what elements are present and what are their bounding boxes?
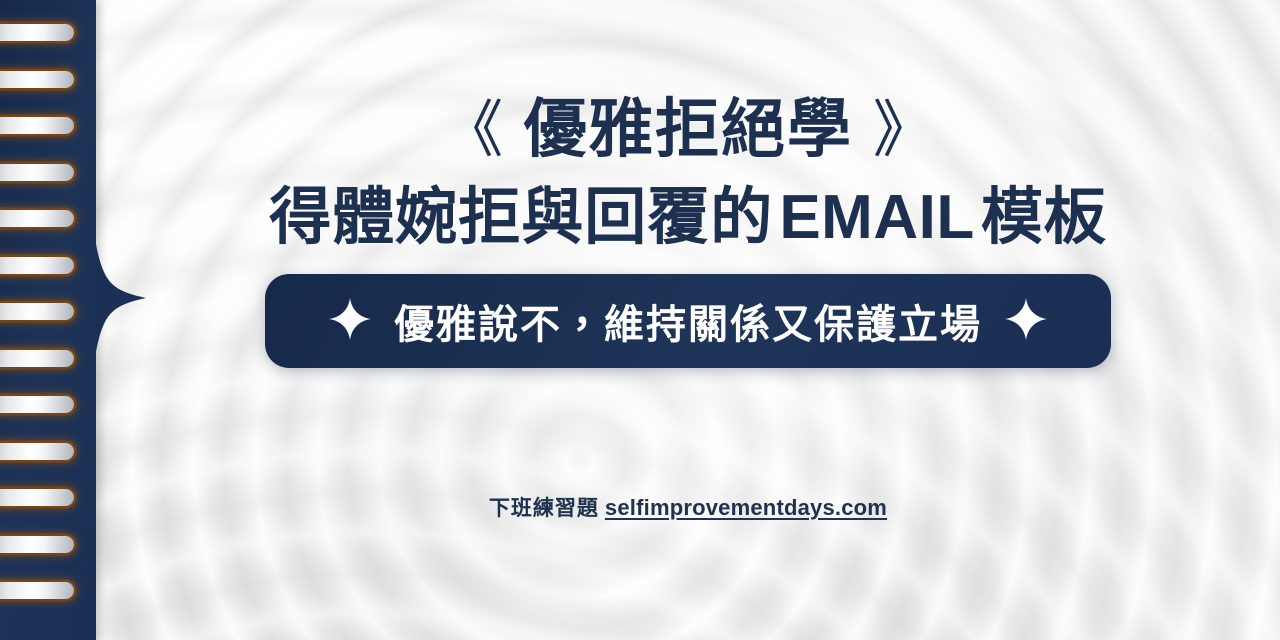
binding-ring: [0, 71, 74, 88]
binding-ring: [0, 117, 74, 134]
binding-ring: [0, 303, 74, 320]
binding-ring: [0, 536, 74, 553]
title-block: 《 優雅拒絕學 》 得體婉拒與回覆的EMAIL模板: [96, 96, 1280, 252]
binding-ring: [0, 582, 74, 599]
sparkle-icon-right: [1004, 297, 1048, 346]
title-line-2-part-1: 得體婉拒與回覆的: [269, 183, 773, 252]
footer-website-link[interactable]: selfimprovementdays.com: [605, 495, 887, 520]
footer: 下班練習題selfimprovementdays.com: [96, 492, 1280, 522]
title-line-2-part-2: 模板: [981, 183, 1107, 252]
subtitle-badge-text: 優雅說不，維持關係又保護立場: [394, 292, 982, 350]
binding-ring: [0, 350, 74, 367]
footer-brand-label: 下班練習題: [489, 497, 599, 520]
open-bracket-glyph: 《: [441, 96, 503, 165]
sparkle-icon-left: [328, 297, 372, 346]
binding-ring: [0, 210, 74, 227]
binding-ring: [0, 489, 74, 506]
title-line-2-latin: EMAIL: [773, 183, 980, 252]
close-bracket-glyph: 》: [873, 96, 935, 165]
binding-ring: [0, 257, 74, 274]
binding-ring: [0, 164, 74, 181]
binding-ring: [0, 443, 74, 460]
page-title-line-1: 《 優雅拒絕學 》: [96, 96, 1280, 163]
subtitle-badge: 優雅說不，維持關係又保護立場: [265, 274, 1111, 368]
content-area: 《 優雅拒絕學 》 得體婉拒與回覆的EMAIL模板 優雅說不，維持關係又保護立場: [96, 0, 1280, 640]
subtitle-badge-wrap: 優雅說不，維持關係又保護立場: [96, 274, 1280, 368]
banner-canvas: 《 優雅拒絕學 》 得體婉拒與回覆的EMAIL模板 優雅說不，維持關係又保護立場: [0, 0, 1280, 640]
spiral-binding-rings: [0, 0, 96, 640]
page-title-line-2: 得體婉拒與回覆的EMAIL模板: [96, 185, 1280, 252]
binding-ring: [0, 24, 74, 41]
title-line-1-text: 優雅拒絕學: [523, 93, 853, 165]
binding-ring: [0, 396, 74, 413]
